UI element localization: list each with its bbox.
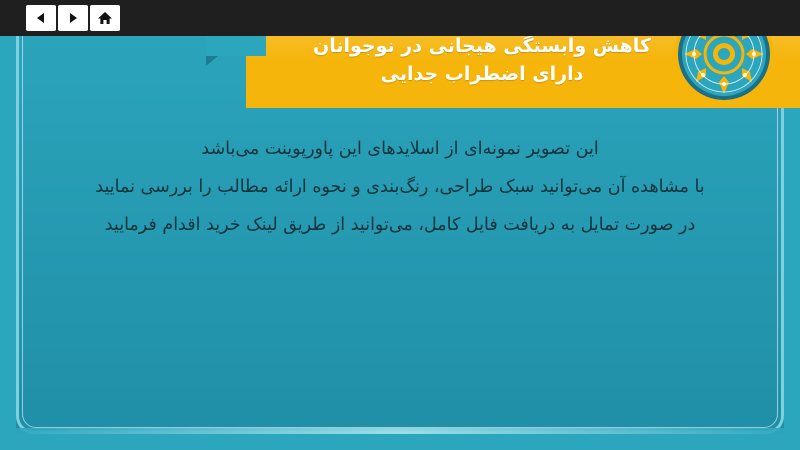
navigation-button-group bbox=[26, 5, 120, 31]
presentation-slide: کامل ارزیابی اثر تصمیم‌گیری مجدد بر کاهش… bbox=[0, 0, 800, 450]
triangle-left-icon bbox=[34, 11, 48, 25]
home-icon bbox=[97, 10, 113, 26]
triangle-right-icon bbox=[66, 11, 80, 25]
body-line-3: در صورت تمایل به دریافت فایل کامل، می‌تو… bbox=[40, 208, 760, 244]
slide-body-text: این تصویر نمونه‌ای از اسلایدهای این پاور… bbox=[40, 132, 760, 246]
previous-slide-button[interactable] bbox=[26, 5, 56, 31]
navigation-toolbar bbox=[0, 0, 800, 36]
home-button[interactable] bbox=[90, 5, 120, 31]
slide-title-line-3: دارای اضطراب جدایی bbox=[282, 60, 682, 88]
next-slide-button[interactable] bbox=[58, 5, 88, 31]
slide-bottom-accent bbox=[16, 428, 784, 434]
body-line-1: این تصویر نمونه‌ای از اسلایدهای این پاور… bbox=[40, 132, 760, 168]
body-line-2: با مشاهده آن می‌توانید سبک طراحی، رنگ‌بن… bbox=[40, 170, 760, 206]
slide-title-line-2: کاهش وابستگی هیجانی در نوجوانان bbox=[282, 32, 682, 60]
